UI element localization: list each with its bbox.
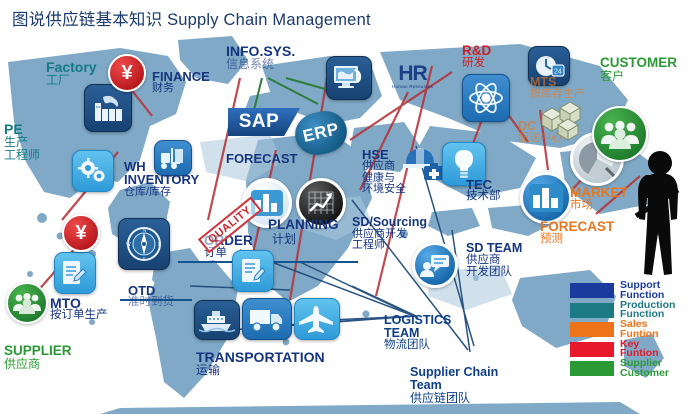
yen-coin-icon[interactable]: ¥ [62, 214, 100, 252]
legend-swatch-key [570, 342, 614, 357]
label-forecast-right-en: FORECAST [540, 220, 614, 234]
label-dc-en: DC [518, 120, 562, 133]
label-sd-sourcing-cn-2: 工程师 [352, 240, 427, 251]
computer-icon[interactable] [326, 56, 372, 100]
sap-logo: SAP [228, 108, 300, 136]
label-dc: DC 配送中心 [518, 120, 562, 144]
label-customer-cn: 客户 [600, 70, 677, 82]
label-sd-team-cn-1: 供应商 [466, 255, 522, 267]
label-logistics-team-cn: 物流团队 [384, 340, 451, 352]
label-customer-en: CUSTOMER [600, 56, 677, 70]
legend-row-production: Production Function [570, 301, 675, 321]
erp-badge-text: ERP [301, 119, 341, 147]
label-wh-inventory-cn: 仓库/库存 [124, 187, 199, 198]
svg-text:N: N [143, 228, 147, 234]
label-tec-cn: 技术部 [466, 191, 501, 203]
label-mto-cn: 按订单生产 [50, 310, 108, 322]
label-rd: R&D 研发 [462, 44, 491, 70]
checklist-icon[interactable] [54, 252, 96, 294]
label-sd-team: SD TEAM 供应商 开发团队 [466, 242, 522, 279]
label-mto: MTO 按订单生产 [50, 296, 108, 322]
legend-swatch-production [570, 303, 614, 318]
bar-chart-icon[interactable] [520, 172, 572, 224]
label-supplier-chain-team-cn: 供应链团队 [410, 392, 498, 404]
legend-row-key: Key Funtion [570, 340, 675, 360]
label-hse-cn-1: 供应商 [362, 161, 406, 172]
label-finance: FINANCE 财务 [152, 70, 210, 95]
legend-label-sales: Sales Funtion [620, 320, 658, 339]
label-info-sys-cn: 信息系统 [226, 58, 295, 70]
svg-text:W: W [126, 242, 131, 248]
label-transportation-cn: 运输 [196, 364, 325, 376]
label-pe-cn-2: 工程师 [4, 149, 40, 161]
label-transportation: TRANSPORTATION 运输 [196, 350, 325, 377]
label-rd-cn: 研发 [462, 58, 491, 70]
svg-text:E: E [158, 242, 162, 248]
hr-logo-text: HR [392, 62, 433, 86]
label-supplier-chain-team-en-2: Team [410, 379, 498, 392]
label-planning-cn-wrap: 计划 [272, 233, 296, 245]
label-logistics-team-en-1: LOGISTICS [384, 314, 451, 327]
label-otd-cn: 准时到货 [128, 297, 174, 309]
label-pe-cn-1: 生产 [4, 136, 40, 148]
infographic-canvas: 图说供应链基本知识 Supply Chain Management [0, 0, 690, 414]
label-market-en: MARKET [570, 186, 628, 200]
label-info-sys: INFO.SYS. 信息系统 [226, 44, 295, 71]
label-sd-sourcing-en: SD/Sourcing [352, 216, 427, 229]
legend-row-support: Support Function [570, 281, 675, 301]
label-wh-inventory-en-2: INVENTORY [124, 173, 199, 186]
label-otd: OTD 准时到货 [128, 284, 174, 309]
legend-label-production: Production Function [620, 301, 675, 320]
legend-label-supplier-customer-line2: Customer [620, 369, 669, 379]
label-mts-cn: 按库存生产 [530, 89, 585, 100]
label-supplier: SUPPLIER 供应商 [4, 344, 72, 370]
truck-icon[interactable] [242, 298, 292, 340]
label-factory: Factory 工厂 [46, 60, 97, 87]
label-logistics-team-en-2: TEAM [384, 327, 451, 340]
label-logistics-team: LOGISTICS TEAM 物流团队 [384, 314, 451, 352]
label-sd-sourcing: SD/Sourcing 供应商开发 工程师 [352, 216, 427, 252]
label-forecast-right-cn: 预测 [540, 234, 614, 246]
legend-swatch-support [570, 283, 614, 298]
label-tec: TEC 技术部 [466, 178, 501, 203]
label-hse-cn-3: 环境安全 [362, 184, 406, 195]
legend-row-sales: Sales Funtion [570, 320, 675, 340]
people-group-icon[interactable] [6, 282, 48, 324]
label-pe: PE 生产 工程师 [4, 122, 40, 161]
label-supplier-cn: 供应商 [4, 358, 72, 370]
label-factory-cn: 工厂 [46, 74, 97, 86]
label-planning-cn: 计划 [272, 233, 296, 245]
label-sd-team-cn-2: 开发团队 [466, 267, 522, 279]
hr-logo-subtext: Human Resources [392, 84, 433, 89]
plane-icon[interactable] [294, 298, 340, 340]
legend-label-support: Support Function [620, 281, 664, 300]
hr-logo: HR Human Resources [392, 62, 433, 89]
atom-icon[interactable] [462, 74, 510, 122]
label-mts: MTS 按库存生产 [530, 76, 585, 100]
label-forecast-left: FORECAST [226, 152, 298, 165]
label-market-cn: 市场 [570, 200, 628, 212]
label-factory-en: Factory [46, 60, 97, 74]
label-forecast-left-en: FORECAST [226, 152, 298, 165]
label-supplier-en: SUPPLIER [4, 344, 72, 358]
label-planning-en: PLANNING [268, 218, 339, 232]
label-mts-en: MTS [530, 76, 585, 89]
person-silhouette-icon [634, 150, 688, 300]
label-planning: PLANNING [268, 218, 339, 232]
label-supplier-chain-team-en-1: Supplier Chain [410, 366, 498, 379]
label-hse: HSE 供应商 健康与 环境安全 [362, 148, 406, 195]
legend-label-key: Key Funtion [620, 340, 658, 359]
gears-icon[interactable] [72, 150, 114, 192]
legend: Support Function Production Function Sal… [570, 281, 675, 379]
label-market: MARKET 市场 [570, 186, 628, 212]
legend-label-supplier-customer: Supplier Customer [620, 359, 669, 378]
sap-logo-text: SAP [228, 108, 300, 136]
legend-row-supplier-customer: Supplier Customer [570, 359, 675, 379]
label-rd-en: R&D [462, 44, 491, 58]
legend-swatch-sales [570, 322, 614, 337]
label-wh-inventory-en-1: WH [124, 160, 199, 173]
label-supplier-chain-team: Supplier Chain Team 供应链团队 [410, 366, 498, 404]
label-dc-cn: 配送中心 [518, 133, 562, 144]
label-pe-en: PE [4, 122, 40, 136]
ship-icon[interactable] [194, 300, 240, 340]
compass-icon[interactable]: NS WE [118, 218, 170, 270]
legend-swatch-supplier-customer [570, 361, 614, 376]
label-sd-team-en: SD TEAM [466, 242, 522, 255]
label-forecast-right: FORECAST 预测 [540, 220, 614, 246]
label-wh-inventory: WH INVENTORY 仓库/库存 [124, 160, 199, 198]
yen-coin-icon[interactable]: ¥ [108, 54, 146, 92]
label-finance-cn: 财务 [152, 83, 210, 94]
label-customer: CUSTOMER 客户 [600, 56, 677, 82]
page-title: 图说供应链基本知识 Supply Chain Management [12, 6, 371, 30]
